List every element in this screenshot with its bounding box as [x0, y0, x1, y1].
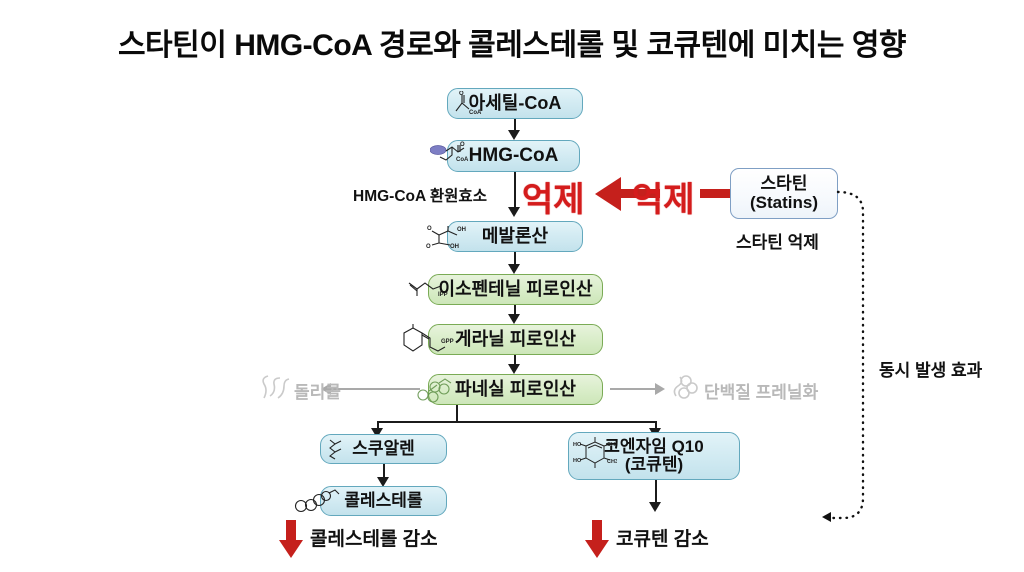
- node-label: 이소펜테닐 피로인산: [438, 280, 592, 299]
- node-label: HMG-CoA: [469, 146, 559, 167]
- branch-line-dolichol: [330, 388, 420, 390]
- node-squalene[interactable]: 스쿠알렌: [320, 434, 447, 464]
- svg-text:CH3: CH3: [607, 459, 617, 465]
- node-isopentenyl-pyrophosphate[interactable]: IPP 이소펜테닐 피로인산: [428, 274, 603, 305]
- geranyl-pp-structure-icon: GPP: [399, 323, 455, 357]
- cholesterol-structure-icon: [293, 487, 345, 515]
- outcome-label-cholesterol-decrease: 콜레스테롤 감소: [310, 524, 438, 551]
- protein-prenylation-icon: [670, 372, 702, 404]
- statin-label-line1: 스타틴: [761, 175, 808, 193]
- node-label: 게라닐 피로인산: [455, 330, 576, 349]
- node-statins[interactable]: 스타틴 (Statins): [730, 168, 838, 219]
- arrow-mevalonate-to-ipp: [508, 264, 520, 274]
- svg-text:GPP: GPP: [441, 339, 454, 345]
- svg-text:O: O: [459, 91, 464, 97]
- inhibition-connector-bar: [700, 189, 732, 198]
- svg-text:HO: HO: [573, 442, 582, 448]
- node-label: 아세틸-CoA: [469, 94, 562, 113]
- connector-fpp-split-bar: [377, 421, 657, 423]
- connector-coq10-to-outcome: [655, 480, 657, 504]
- node-label: 파네실 피로인산: [455, 380, 576, 399]
- statin-caption: 스타틴 억제: [736, 228, 819, 253]
- diagram-canvas: 스타틴이 HMG-CoA 경로와 콜레스테롤 및 코큐텐에 미치는 영향 CoA…: [0, 0, 1024, 572]
- svg-text:O: O: [460, 142, 465, 148]
- node-acetyl-coa[interactable]: CoA O 아세틸-CoA: [447, 88, 583, 119]
- branch-line-prenylation: [610, 388, 656, 390]
- node-cholesterol[interactable]: 콜레스테롤: [320, 486, 447, 516]
- node-coenzyme-q10[interactable]: HO HO CH3 CH3 코엔자임 Q10 (코큐텐): [568, 432, 740, 480]
- mevalonate-structure-icon: OH OH O O: [426, 223, 470, 251]
- connector-hmg-to-mevalonate: [514, 172, 516, 208]
- squalene-structure-icon: [325, 436, 351, 462]
- node-geranyl-pyrophosphate[interactable]: GPP 게라닐 피로인산: [428, 324, 603, 355]
- branch-arrow-prenylation: [655, 383, 665, 395]
- svg-text:OH: OH: [457, 227, 466, 233]
- outcome-label-coq10-decrease: 코큐텐 감소: [616, 524, 709, 551]
- node-farnesyl-pyrophosphate[interactable]: 파네실 피로인산: [428, 374, 603, 405]
- enzyme-label-hmg-coa-reductase: HMG-CoA 환원효소: [353, 184, 487, 206]
- svg-text:HO: HO: [573, 458, 582, 464]
- svg-text:CoA: CoA: [456, 157, 469, 163]
- arrow-gpp-to-fpp: [508, 364, 520, 374]
- inhibition-arrow-icon: [595, 177, 621, 211]
- svg-text:O: O: [427, 226, 432, 232]
- feedback-label: 동시 발생 효과: [879, 356, 982, 381]
- node-label: 스쿠알렌: [352, 440, 415, 458]
- svg-text:OH: OH: [450, 244, 459, 250]
- arrow-hmg-to-mevalonate: [508, 207, 520, 217]
- page-title: 스타틴이 HMG-CoA 경로와 콜레스테롤 및 코큐텐에 미치는 영향: [0, 20, 1024, 64]
- branch-label-protein-prenylation: 단백질 프레닐화: [704, 378, 818, 403]
- red-down-arrow-icon-coq10: [582, 518, 612, 560]
- inhibition-label-left: 억제: [522, 172, 585, 221]
- node-label-line1: 코엔자임 Q10: [604, 438, 703, 456]
- arrow-coq10-to-outcome: [649, 502, 661, 512]
- node-label-line2: (코큐텐): [625, 456, 683, 474]
- svg-text:O: O: [426, 244, 431, 250]
- inhibition-label-right: 억제: [632, 172, 695, 221]
- node-label: 메발론산: [482, 227, 548, 246]
- arrow-acetyl-to-hmg: [508, 130, 520, 140]
- statin-label-line2: (Statins): [750, 194, 818, 212]
- node-mevalonate[interactable]: OH OH O O 메발론산: [447, 221, 583, 252]
- node-label: 콜레스테롤: [344, 492, 422, 510]
- red-down-arrow-icon-cholesterol: [276, 518, 306, 560]
- branch-label-dolichol: 돌리콜: [294, 378, 341, 403]
- dolichol-structure-icon: [258, 372, 292, 404]
- arrow-ipp-to-gpp: [508, 314, 520, 324]
- node-hmg-coa[interactable]: O CoA HMG-CoA: [447, 140, 580, 172]
- feedback-dotted-segment: [742, 518, 824, 521]
